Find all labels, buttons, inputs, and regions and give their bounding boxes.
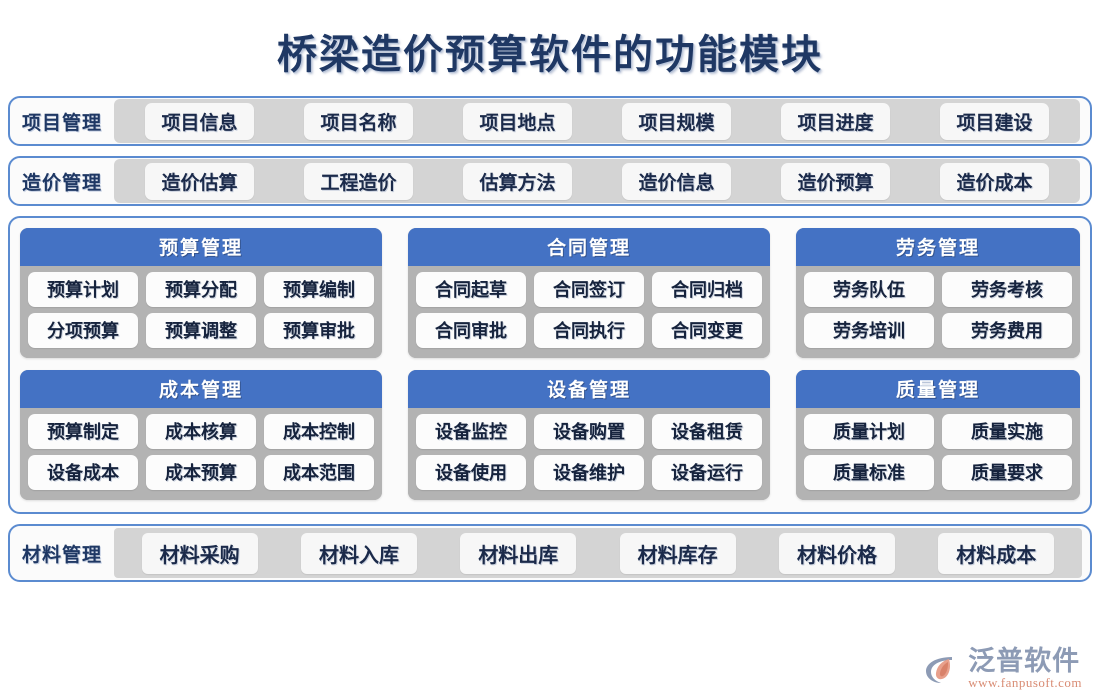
material-management-strip: 材料采购 材料入库 材料出库 材料库存 材料价格 材料成本: [114, 528, 1082, 578]
page-title: 桥梁造价预算软件的功能模块: [0, 0, 1100, 96]
chip-cost-control[interactable]: 成本控制: [264, 414, 374, 449]
pill-material-cost[interactable]: 材料成本: [938, 533, 1054, 574]
diagram-page: 桥梁造价预算软件的功能模块 项目管理 项目信息 项目名称 项目地点 项目规模 项…: [0, 0, 1100, 700]
pill-cost-cost[interactable]: 造价成本: [940, 163, 1048, 200]
chip-contract-drafting[interactable]: 合同起草: [416, 272, 526, 307]
chip-budget-adjustment[interactable]: 预算调整: [146, 313, 256, 348]
chip-labor-assessment[interactable]: 劳务考核: [942, 272, 1072, 307]
module-body-budget-management: 预算计划 预算分配 预算编制 分项预算 预算调整 预算审批: [20, 266, 382, 358]
module-budget-management: 预算管理 预算计划 预算分配 预算编制 分项预算 预算调整 预算审批: [20, 228, 382, 358]
pill-project-progress[interactable]: 项目进度: [781, 103, 889, 140]
pill-material-inbound[interactable]: 材料入库: [301, 533, 417, 574]
chip-equipment-maintenance[interactable]: 设备维护: [534, 455, 644, 490]
chip-equipment-monitoring[interactable]: 设备监控: [416, 414, 526, 449]
pill-material-procurement[interactable]: 材料采购: [142, 533, 258, 574]
chip-budget-preparation[interactable]: 预算编制: [264, 272, 374, 307]
chip-contract-archiving[interactable]: 合同归档: [652, 272, 762, 307]
pill-engineering-cost[interactable]: 工程造价: [304, 163, 412, 200]
pill-project-name[interactable]: 项目名称: [304, 103, 412, 140]
module-row: 预算计划 预算分配 预算编制: [28, 272, 374, 307]
chip-budget-approval[interactable]: 预算审批: [264, 313, 374, 348]
row-label-project-management: 项目管理: [10, 108, 114, 135]
pill-cost-info[interactable]: 造价信息: [622, 163, 730, 200]
chip-budget-plan[interactable]: 预算计划: [28, 272, 138, 307]
cost-estimate-management-row: 造价管理 造价估算 工程造价 估算方法 造价信息 造价预算 造价成本: [8, 156, 1092, 206]
pill-material-inventory[interactable]: 材料库存: [620, 533, 736, 574]
chip-contract-signing[interactable]: 合同签订: [534, 272, 644, 307]
module-row: 劳务队伍 劳务考核: [804, 272, 1072, 307]
module-body-labor-management: 劳务队伍 劳务考核 劳务培训 劳务费用: [796, 266, 1080, 358]
module-row: 设备监控 设备购置 设备租赁: [416, 414, 762, 449]
chip-labor-team[interactable]: 劳务队伍: [804, 272, 934, 307]
chip-equipment-purchase[interactable]: 设备购置: [534, 414, 644, 449]
chip-contract-approval[interactable]: 合同审批: [416, 313, 526, 348]
pill-estimation-method[interactable]: 估算方法: [463, 163, 571, 200]
pill-project-location[interactable]: 项目地点: [463, 103, 571, 140]
module-title-labor-management: 劳务管理: [796, 228, 1080, 266]
row-label-material-management: 材料管理: [10, 540, 114, 567]
chip-labor-training[interactable]: 劳务培训: [804, 313, 934, 348]
fanpu-logo-icon: [922, 650, 960, 688]
chip-cost-accounting[interactable]: 成本核算: [146, 414, 256, 449]
module-row: 设备使用 设备维护 设备运行: [416, 455, 762, 490]
row-label-cost-management: 造价管理: [10, 168, 114, 195]
module-body-cost-management: 预算制定 成本核算 成本控制 设备成本 成本预算 成本范围: [20, 408, 382, 500]
logo-website-url: www.fanpusoft.com: [968, 676, 1082, 690]
modules-grid: 预算管理 预算计划 预算分配 预算编制 分项预算 预算调整 预算审批 合: [20, 228, 1080, 500]
footer-logo: 泛普软件 www.fanpusoft.com: [922, 647, 1082, 690]
pill-project-info[interactable]: 项目信息: [145, 103, 253, 140]
module-contract-management: 合同管理 合同起草 合同签订 合同归档 合同审批 合同执行 合同变更: [408, 228, 770, 358]
chip-budget-allocation[interactable]: 预算分配: [146, 272, 256, 307]
module-row: 合同审批 合同执行 合同变更: [416, 313, 762, 348]
chip-budget-formulation[interactable]: 预算制定: [28, 414, 138, 449]
module-title-quality-management: 质量管理: [796, 370, 1080, 408]
pill-material-outbound[interactable]: 材料出库: [460, 533, 576, 574]
chip-labor-cost[interactable]: 劳务费用: [942, 313, 1072, 348]
chip-quality-standard[interactable]: 质量标准: [804, 455, 934, 490]
pill-project-scale[interactable]: 项目规模: [622, 103, 730, 140]
chip-quality-plan[interactable]: 质量计划: [804, 414, 934, 449]
chip-equipment-leasing[interactable]: 设备租赁: [652, 414, 762, 449]
project-management-strip: 项目信息 项目名称 项目地点 项目规模 项目进度 项目建设: [114, 99, 1080, 143]
project-management-row: 项目管理 项目信息 项目名称 项目地点 项目规模 项目进度 项目建设: [8, 96, 1092, 146]
module-row: 设备成本 成本预算 成本范围: [28, 455, 374, 490]
module-row: 劳务培训 劳务费用: [804, 313, 1072, 348]
chip-itemized-budget[interactable]: 分项预算: [28, 313, 138, 348]
material-management-row: 材料管理 材料采购 材料入库 材料出库 材料库存 材料价格 材料成本: [8, 524, 1092, 582]
module-title-budget-management: 预算管理: [20, 228, 382, 266]
chip-equipment-cost[interactable]: 设备成本: [28, 455, 138, 490]
module-labor-management: 劳务管理 劳务队伍 劳务考核 劳务培训 劳务费用: [796, 228, 1080, 358]
logo-brand-name: 泛普软件: [968, 647, 1080, 675]
chip-contract-change[interactable]: 合同变更: [652, 313, 762, 348]
module-title-cost-management: 成本管理: [20, 370, 382, 408]
module-title-equipment-management: 设备管理: [408, 370, 770, 408]
module-cost-management: 成本管理 预算制定 成本核算 成本控制 设备成本 成本预算 成本范围: [20, 370, 382, 500]
module-quality-management: 质量管理 质量计划 质量实施 质量标准 质量要求: [796, 370, 1080, 500]
module-body-quality-management: 质量计划 质量实施 质量标准 质量要求: [796, 408, 1080, 500]
pill-project-construction[interactable]: 项目建设: [940, 103, 1048, 140]
modules-panel: 预算管理 预算计划 预算分配 预算编制 分项预算 预算调整 预算审批 合: [8, 216, 1092, 514]
module-row: 质量标准 质量要求: [804, 455, 1072, 490]
module-body-contract-management: 合同起草 合同签订 合同归档 合同审批 合同执行 合同变更: [408, 266, 770, 358]
module-row: 预算制定 成本核算 成本控制: [28, 414, 374, 449]
module-title-contract-management: 合同管理: [408, 228, 770, 266]
chip-quality-implementation[interactable]: 质量实施: [942, 414, 1072, 449]
module-row: 合同起草 合同签订 合同归档: [416, 272, 762, 307]
pill-material-price[interactable]: 材料价格: [779, 533, 895, 574]
cost-management-strip: 造价估算 工程造价 估算方法 造价信息 造价预算 造价成本: [114, 159, 1080, 203]
logo-text-wrap: 泛普软件 www.fanpusoft.com: [968, 647, 1082, 690]
chip-equipment-usage[interactable]: 设备使用: [416, 455, 526, 490]
pill-cost-estimation[interactable]: 造价估算: [145, 163, 253, 200]
module-row: 分项预算 预算调整 预算审批: [28, 313, 374, 348]
chip-quality-requirement[interactable]: 质量要求: [942, 455, 1072, 490]
chip-equipment-operation[interactable]: 设备运行: [652, 455, 762, 490]
module-row: 质量计划 质量实施: [804, 414, 1072, 449]
module-equipment-management: 设备管理 设备监控 设备购置 设备租赁 设备使用 设备维护 设备运行: [408, 370, 770, 500]
pill-cost-budget[interactable]: 造价预算: [781, 163, 889, 200]
chip-cost-budget[interactable]: 成本预算: [146, 455, 256, 490]
chip-contract-execution[interactable]: 合同执行: [534, 313, 644, 348]
module-body-equipment-management: 设备监控 设备购置 设备租赁 设备使用 设备维护 设备运行: [408, 408, 770, 500]
chip-cost-scope[interactable]: 成本范围: [264, 455, 374, 490]
